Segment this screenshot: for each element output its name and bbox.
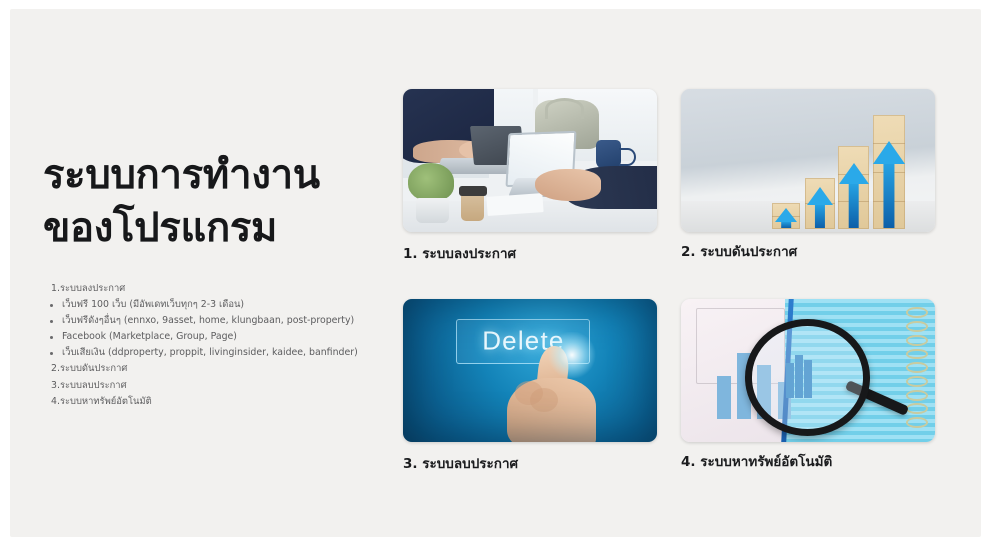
card-1-caption: 1. ระบบลงประกาศ <box>403 242 657 264</box>
card-3: Delete 3. ระบบลบประกาศ <box>403 299 657 474</box>
details-list: 1.ระบบลงประกาศ เว็บฟรี 100 เว็บ (มีอัพเด… <box>35 281 390 410</box>
page-title-line-1: ระบบการทำงาน <box>43 149 390 202</box>
detail-bullet-list: เว็บฟรี 100 เว็บ (มีอัพเดทเว็บทุกๆ 2-3 เ… <box>43 297 390 362</box>
detail-heading-4: 4.ระบบหาทรัพย์อัตโนมัติ <box>43 394 390 410</box>
up-arrow-icon <box>874 119 903 228</box>
magnifying-glass-chart-photo <box>681 299 935 442</box>
page-title-line-2: ของโปรแกรม <box>43 202 390 255</box>
card-4-caption: 4. ระบบหาทรัพย์อัตโนมัติ <box>681 450 935 472</box>
card-4: 4. ระบบหาทรัพย์อัตโนมัติ <box>681 299 935 472</box>
card-3-caption: 3. ระบบลบประกาศ <box>403 452 657 474</box>
detail-heading-2: 2.ระบบดันประกาศ <box>43 361 390 377</box>
card-2-caption: 2. ระบบดันประกาศ <box>681 240 935 262</box>
detail-heading-1: 1.ระบบลงประกาศ <box>43 281 390 297</box>
list-item: Facebook (Marketplace, Group, Page) <box>43 329 390 345</box>
detail-heading-3: 3.ระบบลบประกาศ <box>43 378 390 394</box>
magnifier-icon <box>745 319 871 436</box>
presentation-slide: ระบบการทำงาน ของโปรแกรม 1.ระบบลงประกาศ เ… <box>10 9 981 537</box>
up-arrow-icon <box>807 185 834 228</box>
card-1: 1. ระบบลงประกาศ <box>403 89 657 264</box>
list-item: เว็บฟรีดังๆอื่นๆ (ennxo, 9asset, home, k… <box>43 313 390 329</box>
list-item: เว็บฟรี 100 เว็บ (มีอัพเดทเว็บทุกๆ 2-3 เ… <box>43 297 390 313</box>
delete-button-hand-photo: Delete <box>403 299 657 442</box>
up-arrow-icon <box>840 151 868 228</box>
left-content-column: ระบบการทำงาน ของโปรแกรม 1.ระบบลงประกาศ เ… <box>35 149 390 410</box>
office-desk-laptops-photo <box>403 89 657 232</box>
list-item: เว็บเสียเงิน (ddproperty, proppit, livin… <box>43 345 390 361</box>
growth-blocks-arrows-photo <box>681 89 935 232</box>
slide-frame: ระบบการทำงาน ของโปรแกรม 1.ระบบลงประกาศ เ… <box>0 0 991 557</box>
up-arrow-icon <box>774 211 799 228</box>
page-title: ระบบการทำงาน ของโปรแกรม <box>35 149 390 255</box>
card-2: 2. ระบบดันประกาศ <box>681 89 935 262</box>
